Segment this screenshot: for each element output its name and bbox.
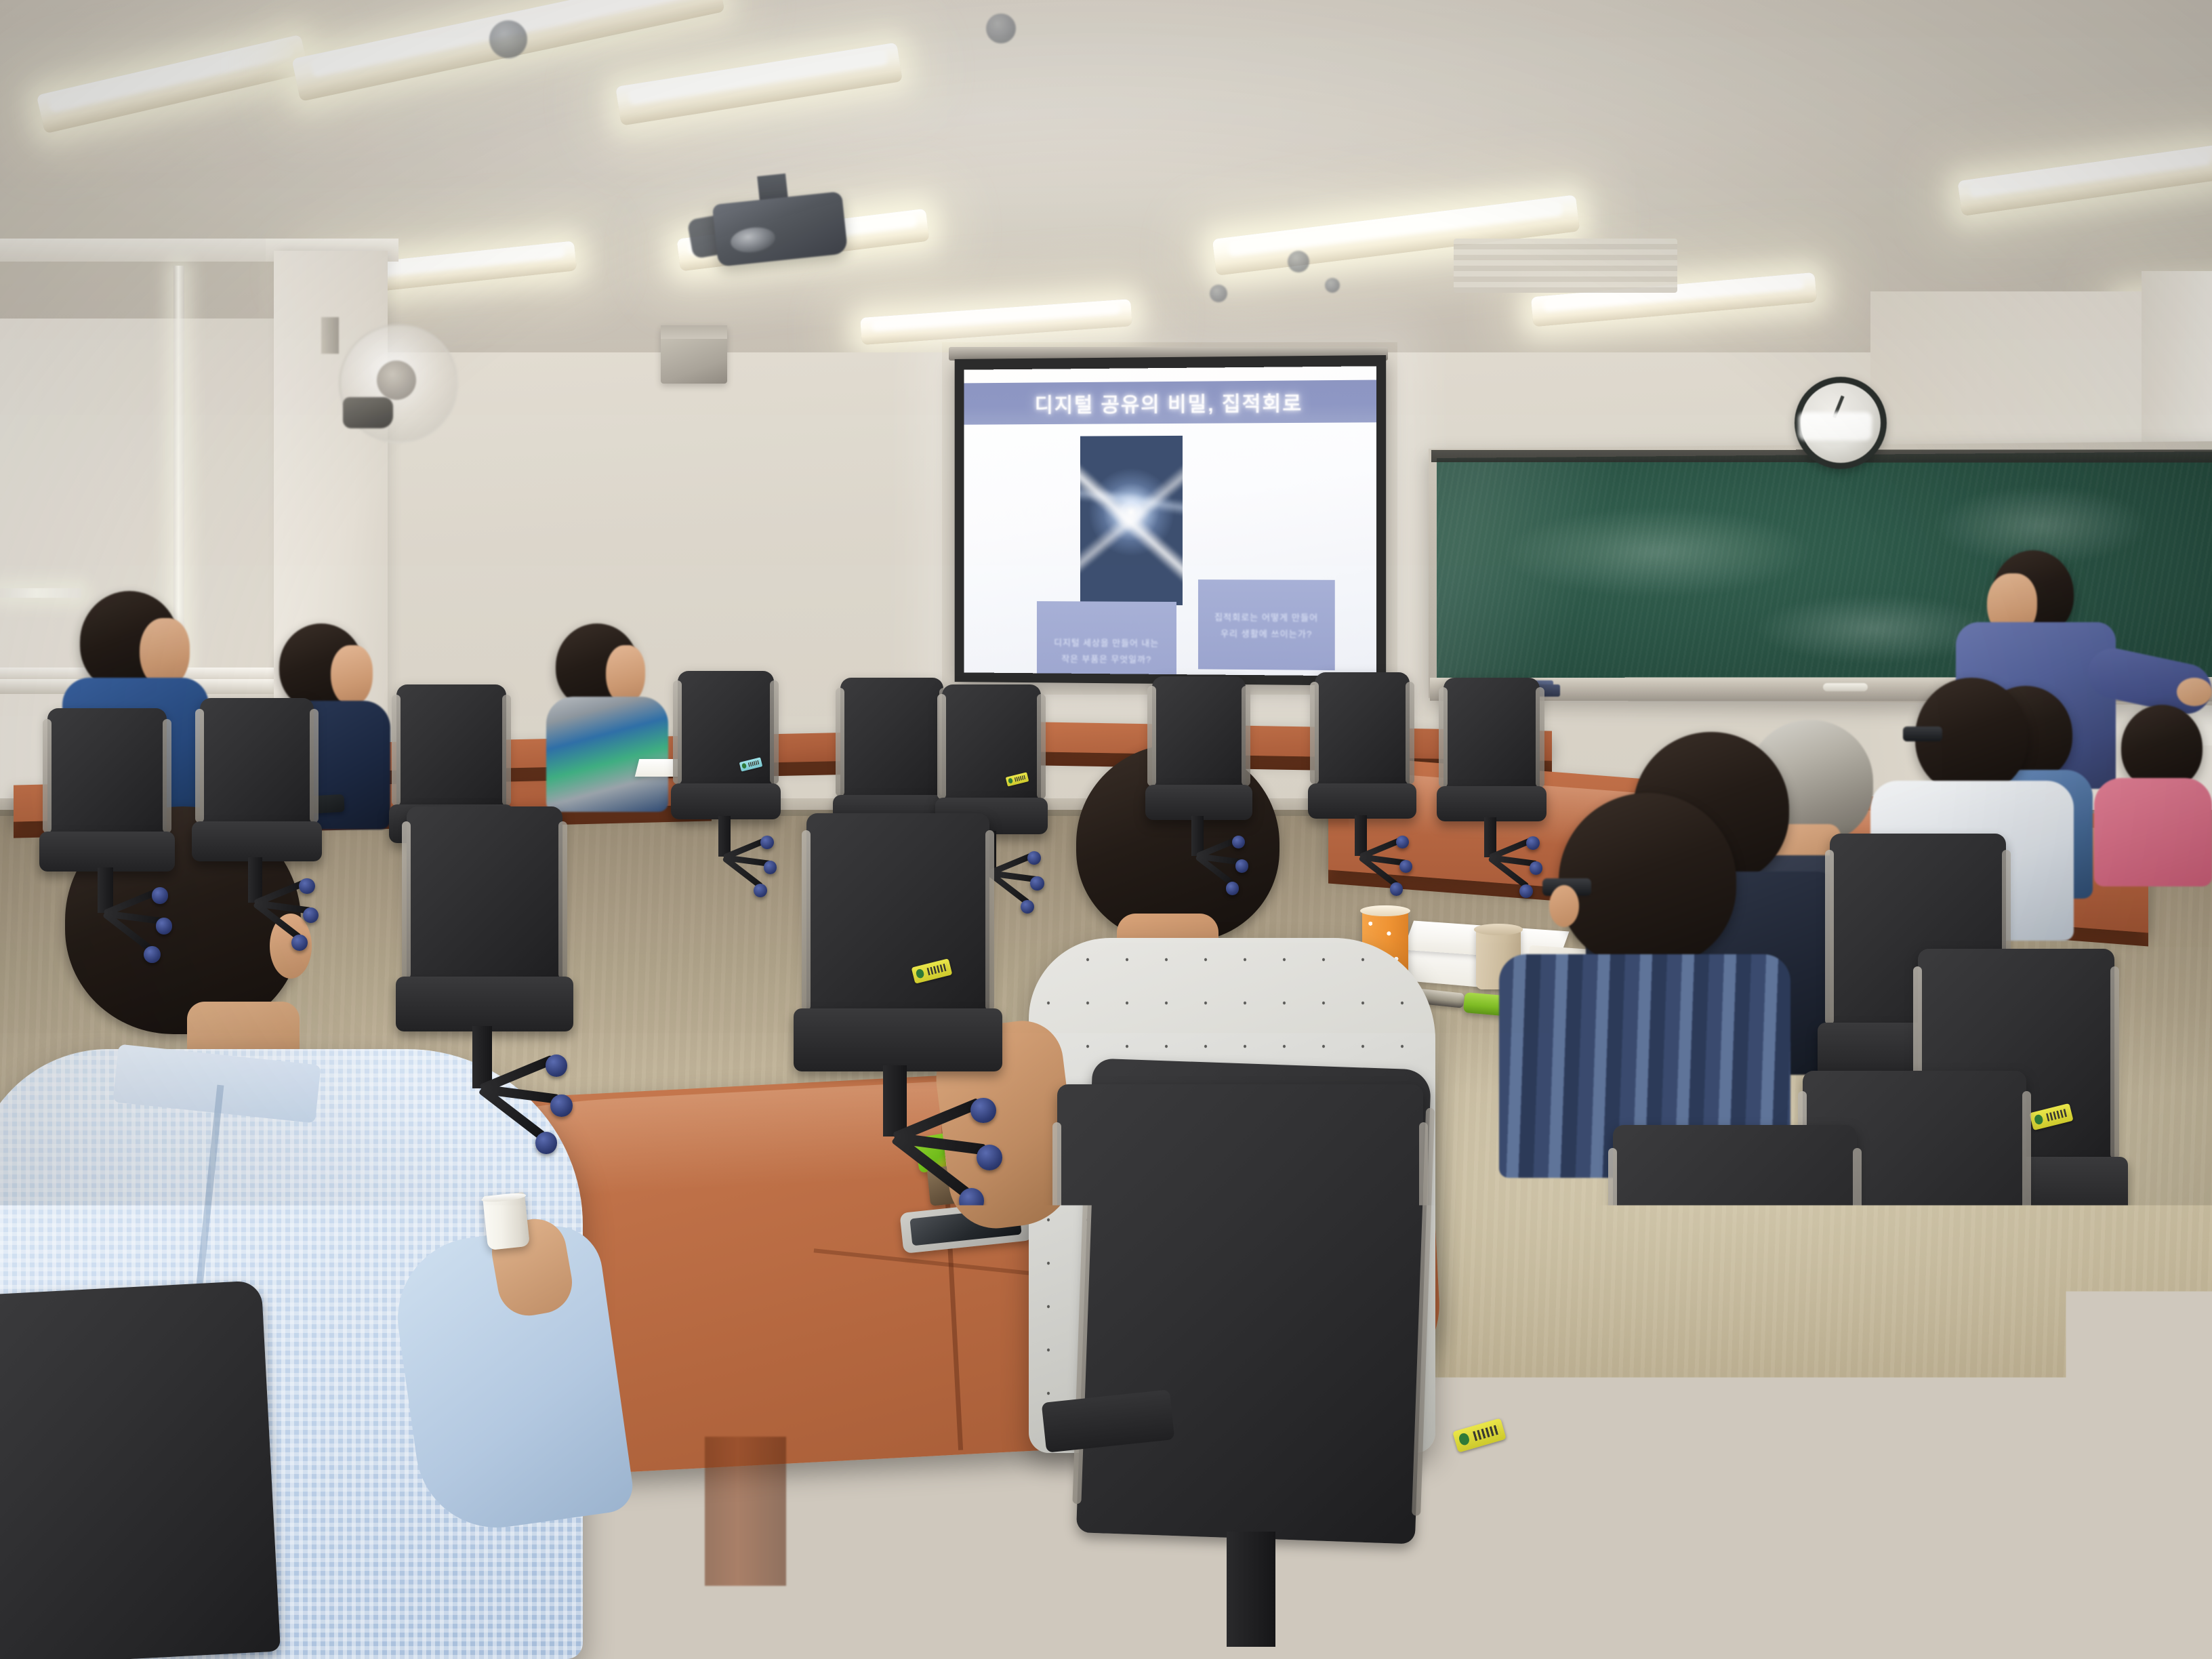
chair-caster-3 <box>2082 1349 2110 1376</box>
chair-post <box>1211 1654 1258 1659</box>
chair-backrest <box>678 671 774 792</box>
chair-post <box>98 867 113 913</box>
chair-seat <box>39 832 176 872</box>
wall-speaker-top <box>661 325 727 339</box>
chair-post <box>472 1026 493 1088</box>
chair-back-row-4[interactable] <box>678 671 774 792</box>
chair-backrest <box>1613 1125 1857 1410</box>
chair-backrest <box>0 1281 285 1659</box>
chair-seat <box>0 1634 304 1659</box>
chair-mid-2[interactable] <box>806 813 989 1023</box>
attendee-right-1-ear <box>1549 885 1579 927</box>
chair-front-2[interactable] <box>0 1281 285 1659</box>
chair-post <box>1715 1467 1747 1563</box>
chair-seat <box>1596 1390 1874 1475</box>
chair-caster-2 <box>550 1094 572 1116</box>
chair-seat <box>1031 1525 1449 1659</box>
slide-title-bar: 디지털 공유의 비밀, 집적회로 <box>964 380 1376 425</box>
slide-box-right-line1: 집적회로는 어떻게 만들어 <box>1214 610 1318 623</box>
chair-post <box>883 1065 907 1136</box>
window-light-slit-2 <box>0 588 81 598</box>
slide-box-right-line2: 우리 생활에 쓰이는가? <box>1221 626 1312 640</box>
chair-back-row-9[interactable] <box>1443 678 1540 794</box>
chair-caster-1 <box>1526 836 1540 850</box>
chair-caster-2 <box>977 1145 1002 1170</box>
slide-box-left-line2: 작은 부품은 무엇일까? <box>1061 652 1151 665</box>
fan-hub <box>377 361 416 400</box>
chair-seat <box>794 1008 1002 1071</box>
slide: 디지털 공유의 비밀, 집적회로 디지털 세상을 만들어 내는 작은 부품은 무… <box>964 366 1376 676</box>
chair-caster-2 <box>1530 861 1543 875</box>
chair-caster-1 <box>546 1054 567 1076</box>
chair-caster-1 <box>760 836 774 849</box>
smoke-detector-icon-2 <box>986 14 1016 43</box>
chair-caster-2 <box>2102 1302 2129 1330</box>
attendee-far-right-shirt <box>2094 778 2212 886</box>
attendee-left-3-shirt <box>546 697 668 812</box>
chair-back-row-7[interactable] <box>1152 676 1246 793</box>
chair-backrest <box>1152 676 1246 793</box>
chair-caster-1 <box>970 1098 996 1124</box>
chair-backrest <box>942 684 1041 806</box>
chair-caster-3 <box>1390 882 1404 896</box>
chair-caster-3 <box>754 884 767 897</box>
chair-back-row-3[interactable] <box>396 684 506 813</box>
chair-seat <box>671 783 781 819</box>
paper-cup-white-held <box>483 1192 530 1250</box>
air-vent <box>1454 239 1677 293</box>
chair-caster-3 <box>535 1132 557 1153</box>
projection-screen[interactable]: 디지털 공유의 비밀, 집적회로 디지털 세상을 만들어 내는 작은 부품은 무… <box>964 366 1376 676</box>
chair-caster-2 <box>1235 859 1248 872</box>
chair-seat <box>1437 786 1547 821</box>
chair-back-row-6[interactable] <box>942 684 1041 806</box>
chair-caster-1 <box>299 878 315 895</box>
chair-caster-1 <box>1027 851 1041 865</box>
chair-caster-3 <box>144 946 161 963</box>
chair-caster-1 <box>2095 1251 2123 1279</box>
chair-caster-2 <box>1030 876 1044 890</box>
window-light-slit-1 <box>173 266 184 672</box>
chair-backrest <box>1315 672 1410 792</box>
chair-backrest <box>407 806 562 989</box>
chair-back-row-5[interactable] <box>840 678 943 804</box>
attendee-right-4-glasses <box>1903 726 1942 741</box>
chair-back-row-1[interactable] <box>47 708 167 841</box>
chair-backrest <box>47 708 167 841</box>
chair-right-4[interactable] <box>1613 1125 1857 1410</box>
slide-photo <box>1080 436 1183 605</box>
chair-post <box>1191 816 1204 855</box>
chair-backrest <box>1443 678 1540 794</box>
seminar-room-photo: 디지털 공유의 비밀, 집적회로 디지털 세상을 만들어 내는 작은 부품은 무… <box>0 0 2212 1659</box>
left-soffit <box>0 239 285 262</box>
chalk-icon[interactable] <box>1823 683 1868 691</box>
chair-caster-1 <box>152 887 169 904</box>
chair-post <box>1355 815 1367 856</box>
chair-caster-2 <box>1843 1574 1877 1607</box>
smoke-detector-icon-3 <box>1288 251 1309 272</box>
smoke-detector-icon-4 <box>1210 285 1227 302</box>
chair-backrest <box>1057 1084 1423 1559</box>
chair-backrest <box>396 684 506 813</box>
chair-post <box>1897 1380 1926 1467</box>
chair-caster-3 <box>1226 882 1239 895</box>
chair-back-row-8[interactable] <box>1315 672 1410 792</box>
chair-caster-3 <box>291 935 308 951</box>
chair-seat <box>396 977 573 1031</box>
chair-backrest <box>200 698 314 831</box>
slide-box-left-line1: 디지털 세상을 만들어 내는 <box>1054 636 1159 649</box>
chair-seat <box>1308 783 1416 819</box>
chair-seat <box>1145 785 1252 820</box>
smoke-detector-icon-5 <box>1325 278 1340 293</box>
chair-caster-2 <box>764 861 777 874</box>
clock-glare <box>1799 412 1872 441</box>
slide-title: 디지털 공유의 비밀, 집적회로 <box>1035 386 1303 418</box>
chair-back-row-2[interactable] <box>200 698 314 831</box>
slide-text-box-left: 디지털 세상을 만들어 내는 작은 부품은 무엇일까? <box>1037 601 1176 676</box>
smoke-detector-icon-1 <box>489 20 527 58</box>
chair-post <box>718 816 731 857</box>
fan-motor <box>343 397 393 428</box>
fan-bracket <box>321 317 339 354</box>
chair-seat <box>192 821 322 861</box>
table-front-leg <box>705 1437 786 1586</box>
chair-backrest <box>806 813 989 1023</box>
chair-backrest <box>840 678 943 804</box>
chair-post <box>248 857 263 903</box>
chair-front-1[interactable] <box>1057 1084 1423 1559</box>
presenter-hand <box>2177 678 2212 706</box>
slide-text-box-right: 집적회로는 어떻게 만들어 우리 생활에 쓰이는가? <box>1198 579 1335 670</box>
chair-caster-3 <box>1519 884 1533 898</box>
chair-caster-1 <box>1835 1511 1868 1545</box>
chair-post <box>1484 817 1496 857</box>
chair-mid-1[interactable] <box>407 806 562 989</box>
chair-caster-1 <box>2005 1419 2036 1450</box>
